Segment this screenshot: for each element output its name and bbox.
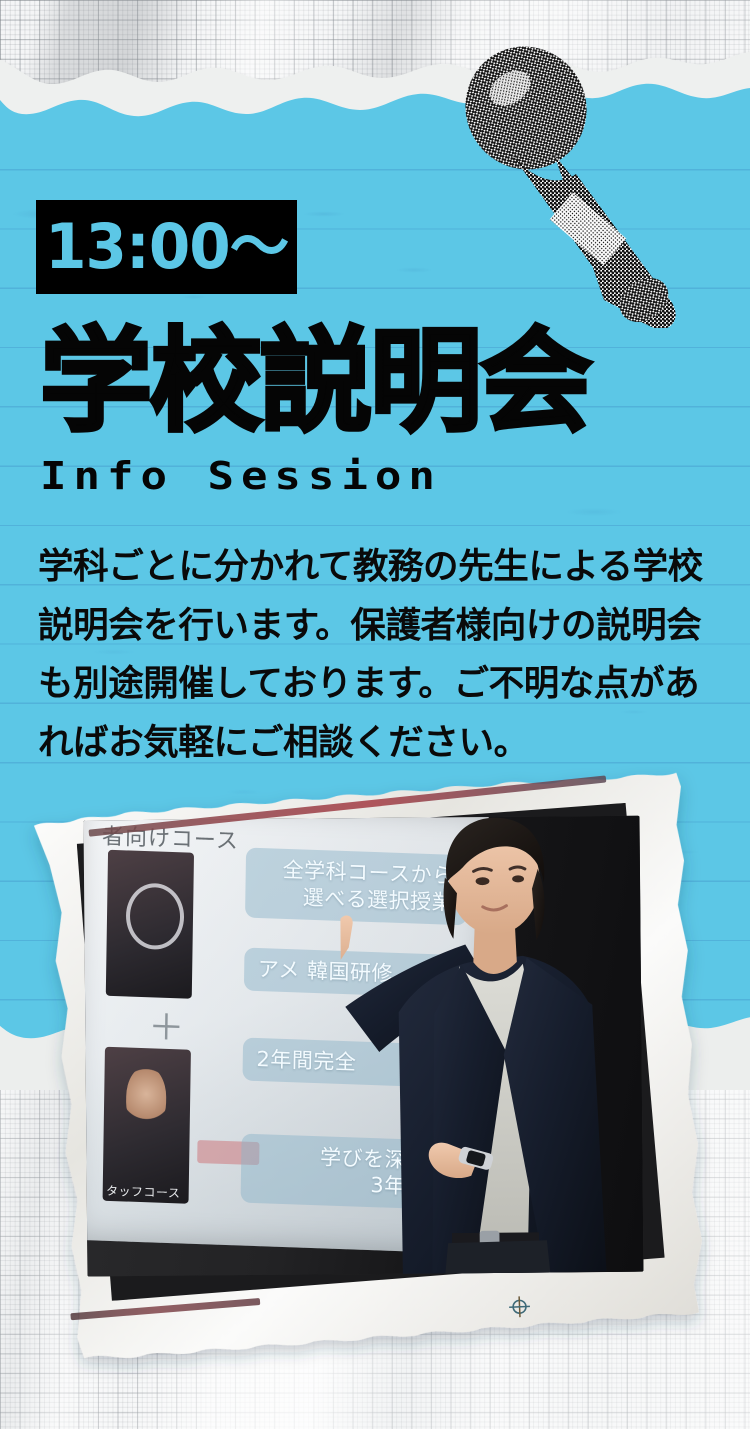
slide-thumbnail-2: タッフコース: [102, 1047, 191, 1205]
photo-card: 者向けコース タッフコース ＋ 全学科コースから 選べる選択授業 アメ 韓国研修…: [25, 764, 708, 1351]
time-badge-label: 13:00〜: [45, 216, 288, 278]
poster-root: 13:00〜 学校説明会 Info Session 学科ごとに分かれて教務の先生…: [0, 0, 750, 1429]
registration-mark-icon: [508, 1295, 531, 1318]
slide-thumbnail-1: [106, 850, 195, 999]
photo-image: 者向けコース タッフコース ＋ 全学科コースから 選べる選択授業 アメ 韓国研修…: [84, 816, 644, 1277]
page-title: 学校説明会: [40, 326, 590, 438]
description-text: 学科ごとに分かれて教務の先生による学校説明会を行います。保護者様向けの説明会も別…: [38, 538, 728, 772]
slide-thumbnail-caption: タッフコース: [106, 1183, 181, 1203]
photo-scene: 者向けコース タッフコース ＋ 全学科コースから 選べる選択授業 アメ 韓国研修…: [84, 816, 644, 1277]
time-badge: 13:00〜: [36, 200, 297, 294]
slide-plus-icon: ＋: [148, 1011, 185, 1048]
page-subtitle: Info Session: [40, 458, 442, 496]
presenter-figure: [339, 816, 643, 1277]
